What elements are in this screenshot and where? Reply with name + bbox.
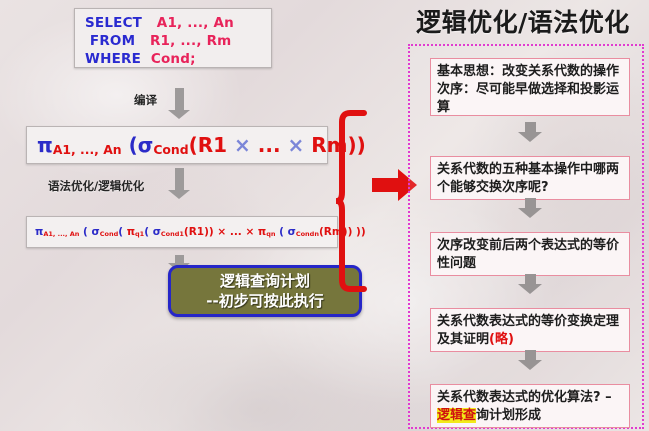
arrow-down-panel-2 <box>518 198 542 218</box>
pi-subscript-4: qn <box>266 230 275 238</box>
sql-line-where: WHERE Cond; <box>85 50 271 68</box>
logical-query-plan-box: 逻辑查询计划 --初步可按此执行 <box>168 265 362 317</box>
box-five-operations: 关系代数的五种基本操作中哪两个能够交换次序呢? <box>430 156 630 200</box>
box-transform-theorem: 关系代数表达式的等价变换定理及其证明(略) <box>430 308 630 352</box>
sigma-subscript: Cond <box>153 142 188 157</box>
label-syntax-logic-optimization: 语法优化/逻辑优化 <box>48 178 144 194</box>
paren-open-4: ( <box>118 226 126 238</box>
cross-products: ) × ... × <box>209 226 258 238</box>
optimized-expression-box: πA1, ..., An ( σCond( πq1( σCond1(R1)) ×… <box>26 216 338 248</box>
sql-keyword-select: SELECT <box>85 15 142 31</box>
box-basic-idea-text: 基本思想：改变关系代数的操作次序：尽可能早做选择和投影运算 <box>437 64 619 115</box>
pi-subscript-2: A1, ..., An <box>43 230 79 238</box>
pi-symbol-4: π <box>258 226 266 238</box>
plan-line-2: --初步可按此执行 <box>206 291 323 311</box>
box-optimize-algorithm-text-a: 关系代数表达式的优化算法? – <box>437 390 612 405</box>
box-optimize-algorithm-text-b: 询计划形成 <box>476 408 541 423</box>
paren-open-1: ( <box>122 133 138 157</box>
sigma-symbol-4: σ <box>288 226 296 238</box>
arrow-down-panel-4 <box>518 350 542 370</box>
sql-value-select: A1, ..., An <box>157 15 234 31</box>
paren-open-3: ( <box>79 226 91 238</box>
paren-open-5: ( <box>144 226 152 238</box>
sigma-subscript-4: Condn <box>296 230 319 238</box>
box-basic-idea: 基本思想：改变关系代数的操作次序：尽可能早做选择和投影运算 <box>430 58 630 116</box>
right-panel: 基本思想：改变关系代数的操作次序：尽可能早做选择和投影运算 关系代数的五种基本操… <box>408 44 644 429</box>
relation-r1: R1 <box>198 133 227 157</box>
box-transform-theorem-text: 关系代数表达式的等价变换定理及其证明 <box>437 314 619 347</box>
pi-symbol-3: π <box>127 226 135 238</box>
arrow-down-panel-3 <box>518 274 542 294</box>
sigma-symbol-2: σ <box>92 226 100 238</box>
pi-symbol: π <box>37 133 53 157</box>
box-optimize-algorithm-highlight: 逻辑查 <box>437 408 476 423</box>
paren-open-6: ( <box>276 226 288 238</box>
pi-subscript-3: q1 <box>135 230 144 238</box>
page-title: 逻辑优化/语法优化 <box>400 4 646 38</box>
sql-value-where: Cond; <box>151 51 196 67</box>
pi-subscript: A1, ..., An <box>53 142 122 157</box>
paren-open-2: ( <box>189 133 198 157</box>
plan-line-1: 逻辑查询计划 <box>220 271 310 291</box>
label-compile: 编译 <box>134 92 157 108</box>
formula-initial: πA1, ..., An (σCond(R1 × ... × Rm)) <box>37 133 366 157</box>
box-five-operations-text: 关系代数的五种基本操作中哪两个能够交换次序呢? <box>437 162 619 195</box>
sql-keyword-where: WHERE <box>85 51 141 67</box>
slide-canvas: SELECT A1, ..., An FROM R1, ..., Rm WHER… <box>0 0 649 431</box>
sql-value-from: R1, ..., Rm <box>150 33 232 49</box>
cross-product-1: × <box>227 133 258 157</box>
box-equivalence-text: 次序改变前后两个表达式的等价性问题 <box>437 238 619 271</box>
box-equivalence: 次序改变前后两个表达式的等价性问题 <box>430 232 630 276</box>
ellipsis: ... <box>258 133 281 157</box>
arrow-down-compile <box>168 88 190 119</box>
sql-query-box: SELECT A1, ..., An FROM R1, ..., Rm WHER… <box>74 8 272 68</box>
arrow-down-panel-1 <box>518 122 542 142</box>
red-brace <box>336 108 370 294</box>
box-optimize-algorithm: 关系代数表达式的优化算法? –逻辑查询计划形成 <box>430 384 630 428</box>
box-transform-theorem-omitted: (略) <box>489 332 514 347</box>
sigma-subscript-3: Cond1 <box>161 230 184 238</box>
sql-keyword-from: FROM <box>90 33 135 49</box>
sql-line-from: FROM R1, ..., Rm <box>85 32 271 50</box>
cross-product-2: × <box>281 133 312 157</box>
arrow-down-optimize <box>168 168 190 199</box>
sql-line-select: SELECT A1, ..., An <box>85 14 271 32</box>
sigma-symbol: σ <box>138 133 154 157</box>
relational-algebra-expression-box: πA1, ..., An (σCond(R1 × ... × Rm)) <box>26 126 328 164</box>
sigma-subscript-2: Cond <box>100 230 119 238</box>
relation-r1-2: (R1) <box>184 226 209 238</box>
sigma-symbol-3: σ <box>153 226 161 238</box>
formula-optimized: πA1, ..., An ( σCond( πq1( σCond1(R1)) ×… <box>35 226 366 238</box>
